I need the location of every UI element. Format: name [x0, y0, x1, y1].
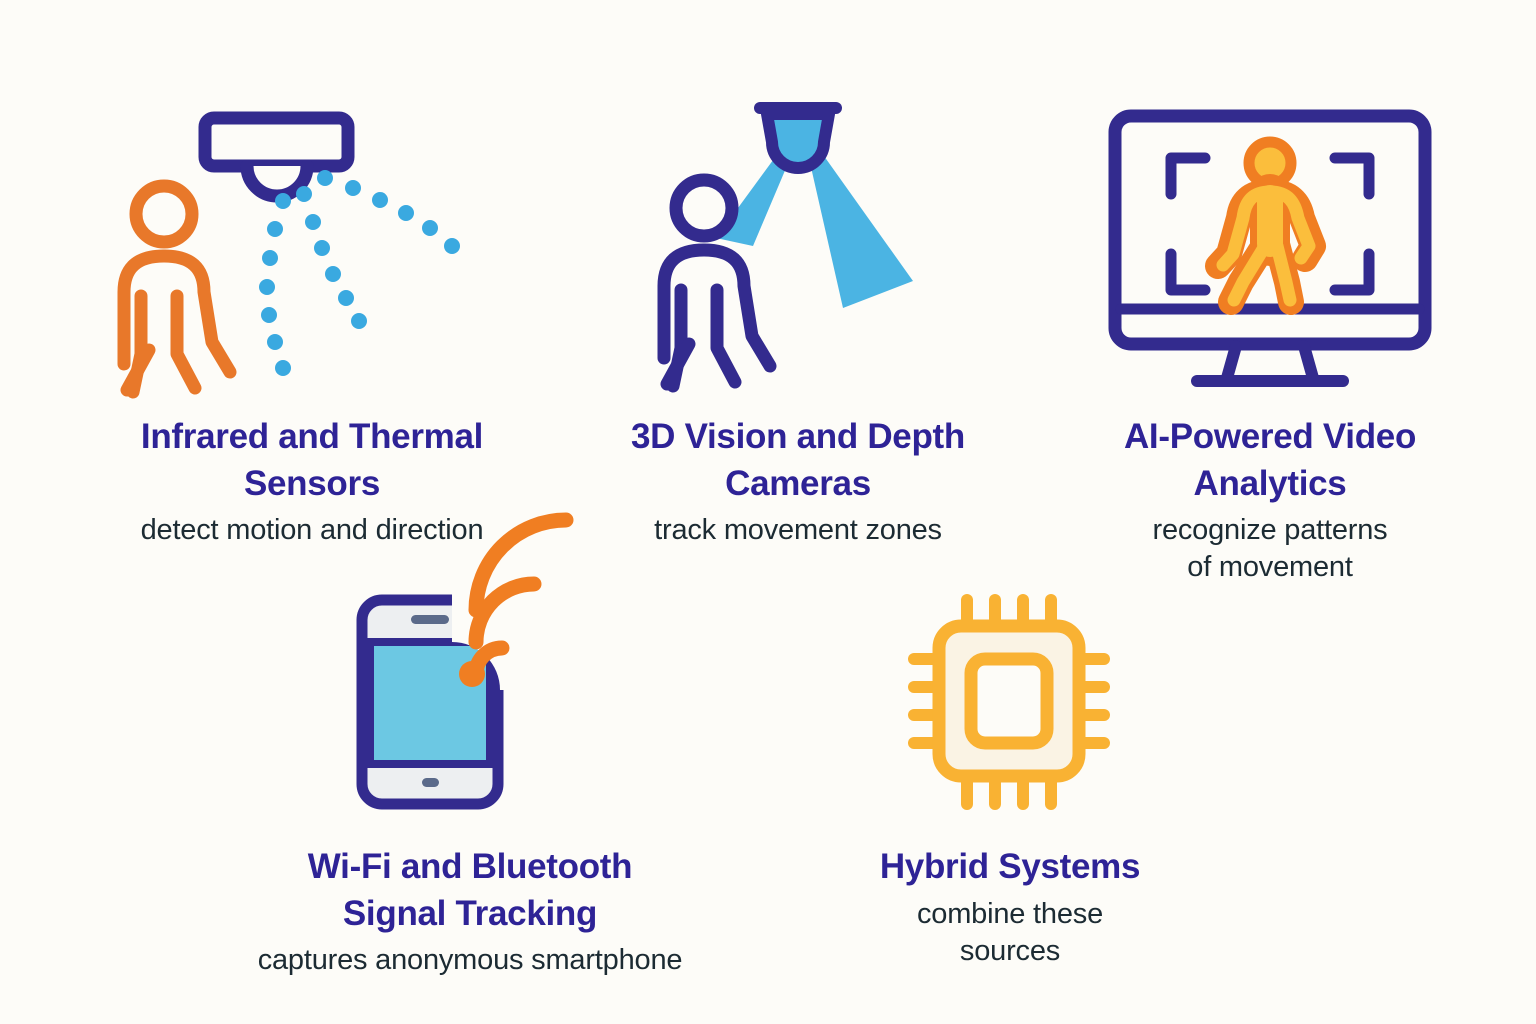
infrared-ray-steep: [259, 193, 291, 376]
card-subtitle: captures anonymous smartphone: [258, 942, 683, 979]
infrared-thermal-sensor-icon: [97, 96, 527, 396]
icon-wrap-3dvision: [638, 96, 958, 396]
card-title: Hybrid Systems: [880, 844, 1140, 891]
card-subtitle: detect motion and direction: [141, 512, 484, 549]
caption-3dvision: 3D Vision and Depth Cameras track moveme…: [558, 414, 1038, 549]
card-hybrid-systems: Hybrid Systems combine these sources: [790, 586, 1230, 970]
sensor-body: [205, 118, 348, 166]
infographic-canvas: Infrared and Thermal Sensors detect moti…: [0, 0, 1536, 1024]
caption-hybrid: Hybrid Systems combine these sources: [790, 844, 1230, 970]
phone-earpiece-speaker: [411, 615, 449, 624]
walking-person-outline: [124, 186, 230, 392]
card-ai-powered-video-analytics: AI-Powered Video Analytics recognize pat…: [1022, 96, 1518, 586]
caption-ai: AI-Powered Video Analytics recognize pat…: [1022, 414, 1518, 586]
caption-wifi: Wi-Fi and Bluetooth Signal Tracking capt…: [182, 844, 758, 979]
card-subtitle: track movement zones: [654, 512, 942, 549]
phone-home-button: [422, 778, 439, 787]
video-analytics-monitor-icon: [1105, 106, 1435, 396]
card-title: Infrared and Thermal Sensors: [141, 414, 483, 507]
chip-core: [971, 659, 1047, 743]
icon-wrap-ai: [1105, 96, 1435, 396]
card-infrared-thermal-sensors: Infrared and Thermal Sensors detect moti…: [34, 96, 590, 549]
card-title: Wi-Fi and Bluetooth Signal Tracking: [308, 844, 632, 937]
icon-wrap-hybrid: [902, 586, 1118, 818]
cpu-chip-icon: [902, 586, 1118, 818]
card-subtitle: recognize patterns of movement: [1153, 512, 1388, 586]
depth-beam-right: [808, 154, 913, 308]
camera-lens-housing: [767, 114, 829, 168]
caption-infrared: Infrared and Thermal Sensors detect moti…: [34, 414, 590, 549]
monitor-stand: [1197, 346, 1343, 381]
infrared-ray-shallow: [317, 170, 460, 254]
card-title: AI-Powered Video Analytics: [1124, 414, 1416, 507]
icon-wrap-infrared: [97, 96, 527, 396]
card-3d-vision-depth-cameras: 3D Vision and Depth Cameras track moveme…: [558, 96, 1038, 549]
card-wifi-bluetooth-signal-tracking: Wi-Fi and Bluetooth Signal Tracking capt…: [182, 586, 758, 979]
smartphone-wifi-signal-icon: [348, 586, 592, 818]
ceiling-camera: [754, 102, 842, 168]
infrared-ray-diagonal: [296, 186, 367, 329]
icon-wrap-wifi: [348, 586, 592, 818]
wifi-origin-dot: [459, 661, 485, 687]
card-subtitle: combine these sources: [917, 896, 1103, 970]
depth-camera-icon: [638, 96, 958, 396]
card-title: 3D Vision and Depth Cameras: [631, 414, 965, 507]
